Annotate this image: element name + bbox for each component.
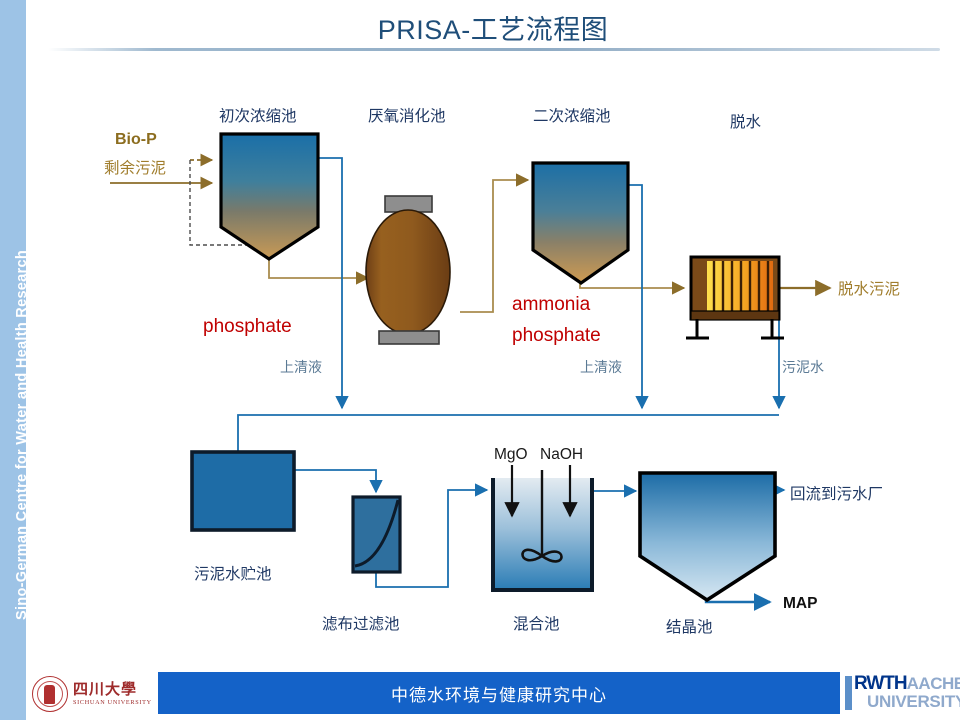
unit-anaerobic-digester[interactable]	[366, 196, 450, 344]
unit-cloth-filter[interactable]	[353, 497, 400, 572]
scu-seal-inner-icon	[44, 685, 55, 704]
unit-sludge-water-storage[interactable]	[192, 452, 294, 530]
label-sludge-water-tank: 污泥水贮池	[194, 562, 272, 584]
scu-seal-icon	[32, 676, 68, 712]
slide-canvas: Sino-German Centre for Water and Health …	[0, 0, 960, 720]
unit-mixing-tank[interactable]	[493, 465, 592, 590]
label-cloth-filter: 滤布过滤池	[322, 612, 400, 634]
label-naoh: NaOH	[540, 446, 583, 464]
annotation-supernatant-2: 上清液	[580, 357, 622, 377]
pipe-map-out	[706, 600, 770, 602]
pipe-storage-to-filter	[294, 470, 376, 492]
annotation-ammonia: ammonia	[512, 294, 590, 316]
footer-center-bar: 中德水环境与健康研究中心	[158, 672, 840, 714]
label-primary-thickener: 初次浓缩池	[219, 104, 297, 126]
unit-dewatering-press[interactable]	[686, 257, 784, 338]
footer: 四川大學 SICHUAN UNIVERSITY 中德水环境与健康研究中心 RWT…	[0, 660, 960, 720]
unit-crystallizer[interactable]	[640, 473, 775, 600]
label-mixing-tank: 混合池	[513, 612, 560, 634]
scu-name-cn: 四川大學	[73, 682, 152, 697]
unit-secondary-thickener[interactable]	[533, 163, 628, 283]
label-mgo: MgO	[494, 446, 528, 464]
rwth-wordmark: RWTH	[854, 673, 907, 694]
footer-sidebar-strip	[0, 660, 26, 720]
output-map-product: MAP	[783, 595, 817, 613]
label-secondary-thickener: 二次浓缩池	[533, 104, 611, 126]
label-bio-p: Bio-P	[115, 131, 157, 149]
unit-primary-thickener[interactable]	[221, 134, 318, 259]
sichuan-university-logo: 四川大學 SICHUAN UNIVERSITY	[32, 672, 160, 716]
pipe-supernatant-2	[628, 185, 642, 408]
scu-name-en: SICHUAN UNIVERSITY	[73, 700, 152, 706]
label-crystallizer: 结晶池	[666, 615, 713, 637]
annotation-phosphate-1: phosphate	[203, 316, 292, 338]
rwth-line1: RWTHAACHEN	[854, 674, 960, 693]
annotation-supernatant-1: 上清液	[280, 357, 322, 377]
rwth-accent-bar-icon	[845, 676, 852, 710]
output-dewatered-sludge: 脱水污泥	[838, 277, 900, 299]
annotation-phosphate-2: phosphate	[512, 325, 601, 347]
rwth-aachen-logo: RWTHAACHEN UNIVERSITY	[845, 674, 957, 714]
pipe-thickener1-to-digester	[269, 255, 368, 278]
label-anaerobic-digester: 厌氧消化池	[368, 104, 446, 126]
label-excess-sludge: 剩余污泥	[104, 156, 166, 178]
pipe-thickener2-to-dewatering	[580, 283, 684, 288]
footer-center-text: 中德水环境与健康研究中心	[391, 681, 607, 706]
label-dewatering: 脱水	[730, 110, 761, 132]
rwth-line2: UNIVERSITY	[867, 693, 960, 710]
rwth-aachen-word: AACHEN	[907, 674, 960, 693]
output-return-to-wwtp: 回流到污水厂	[790, 482, 883, 504]
pipe-digester-to-thickener2	[460, 180, 528, 312]
annotation-sludge-water: 污泥水	[782, 357, 824, 377]
scu-wordmark: 四川大學 SICHUAN UNIVERSITY	[73, 682, 152, 706]
